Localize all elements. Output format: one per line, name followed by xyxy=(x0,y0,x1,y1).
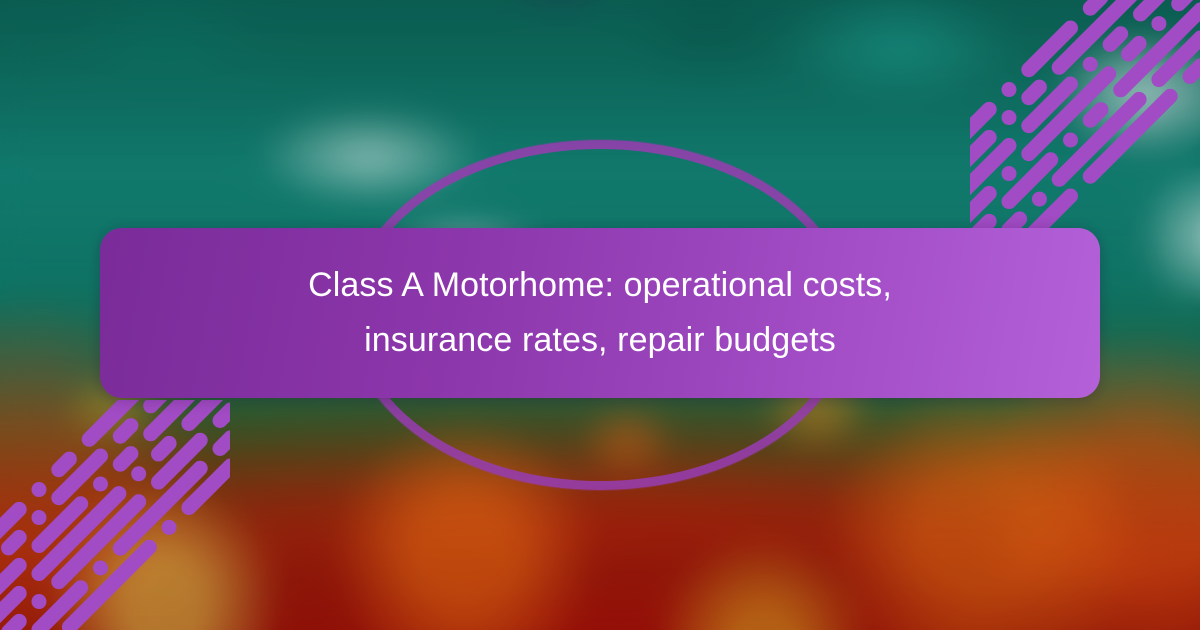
banner-canvas: Class A Motorhome: operational costs, in… xyxy=(0,0,1200,630)
title-card: Class A Motorhome: operational costs, in… xyxy=(100,228,1100,398)
page-title: Class A Motorhome: operational costs, in… xyxy=(182,258,1018,368)
